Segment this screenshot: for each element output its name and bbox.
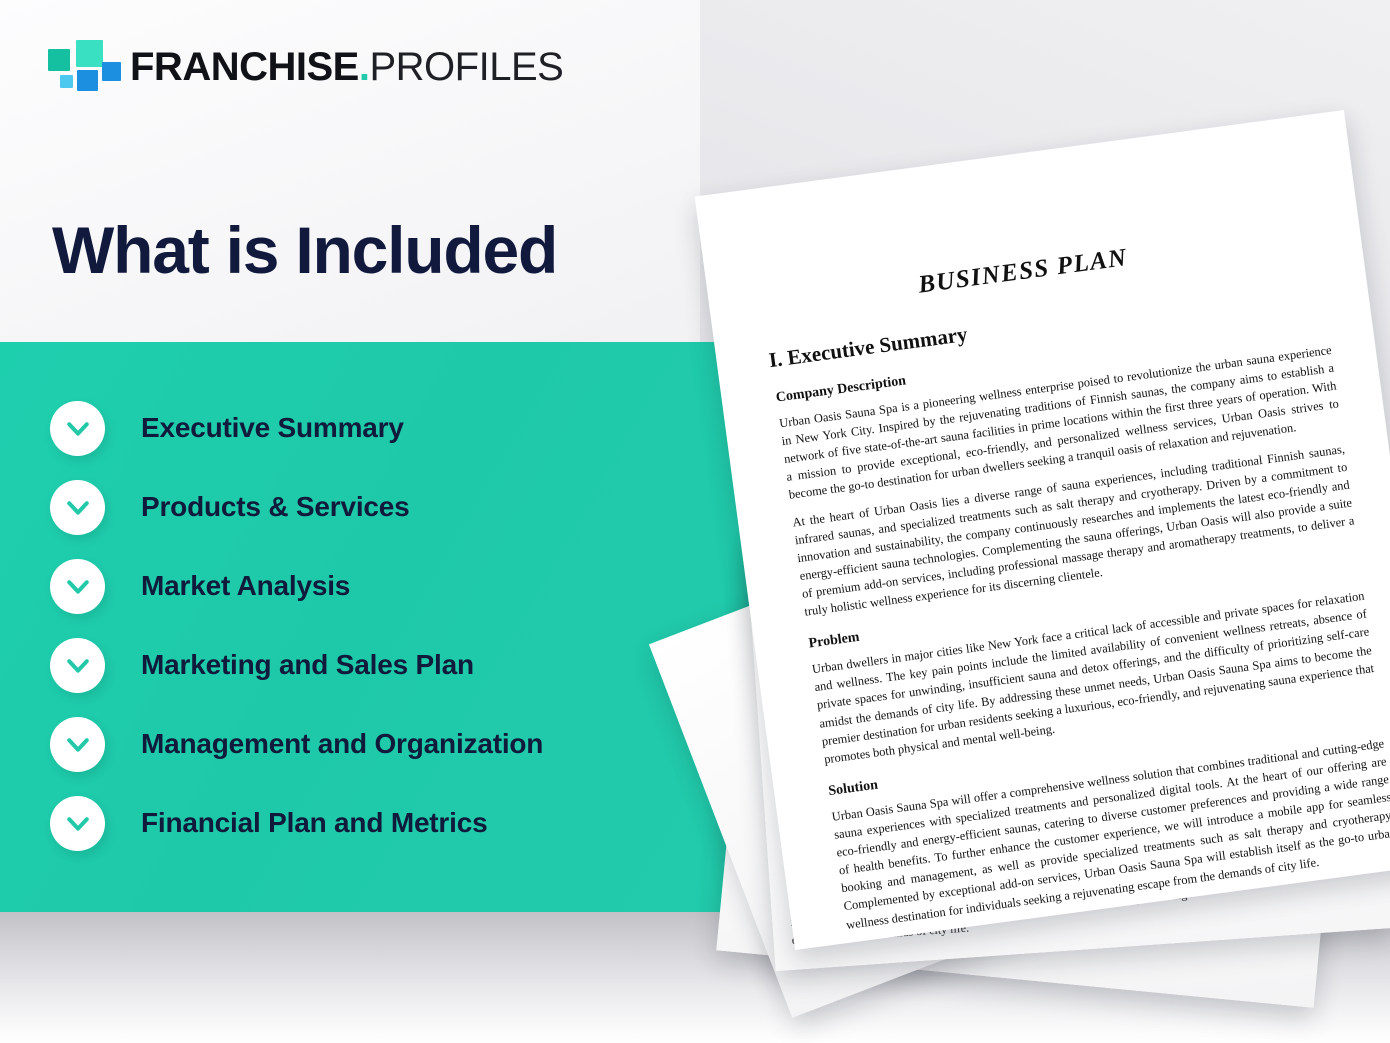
list-item-label: Financial Plan and Metrics xyxy=(141,807,487,839)
brand-name-bold: FRANCHISE xyxy=(130,45,359,89)
list-item[interactable]: Marketing and Sales Plan xyxy=(50,635,730,695)
document-page-front[interactable]: BUSINESS PLAN I. Executive Summary Compa… xyxy=(695,110,1390,950)
chevron-down-icon[interactable] xyxy=(50,559,105,614)
brand-logo[interactable]: FRANCHISE.PROFILES xyxy=(46,38,563,96)
list-item[interactable]: Executive Summary xyxy=(50,398,730,458)
logo-squares-icon xyxy=(46,38,104,96)
chevron-down-icon[interactable] xyxy=(50,480,105,535)
chevron-down-icon[interactable] xyxy=(50,401,105,456)
logo-square-blue-lower xyxy=(77,70,98,91)
slide-canvas: FRANCHISE.PROFILES What is Included Exec… xyxy=(0,0,1390,1043)
list-item-label: Marketing and Sales Plan xyxy=(141,649,474,681)
page-title: What is Included xyxy=(52,214,557,287)
chevron-down-icon[interactable] xyxy=(50,796,105,851)
included-sections-list: Executive Summary Products & Services Ma… xyxy=(50,398,730,872)
list-item[interactable]: Management and Organization xyxy=(50,714,730,774)
list-item[interactable]: Market Analysis xyxy=(50,556,730,616)
brand-name-dot: . xyxy=(359,45,370,89)
list-item-label: Market Analysis xyxy=(141,570,350,602)
list-item-label: Products & Services xyxy=(141,491,410,523)
logo-square-teal-light xyxy=(76,40,103,67)
chevron-down-icon[interactable] xyxy=(50,638,105,693)
brand-name-light: PROFILES xyxy=(369,45,563,89)
list-item[interactable]: Financial Plan and Metrics xyxy=(50,793,730,853)
logo-square-skyblue xyxy=(60,75,73,88)
logo-square-teal-dark xyxy=(48,49,70,71)
list-item[interactable]: Products & Services xyxy=(50,477,730,537)
list-item-label: Management and Organization xyxy=(141,728,543,760)
list-item-label: Executive Summary xyxy=(141,412,404,444)
brand-wordmark: FRANCHISE.PROFILES xyxy=(130,47,563,87)
chevron-down-icon[interactable] xyxy=(50,717,105,772)
logo-square-blue-right xyxy=(102,62,121,81)
